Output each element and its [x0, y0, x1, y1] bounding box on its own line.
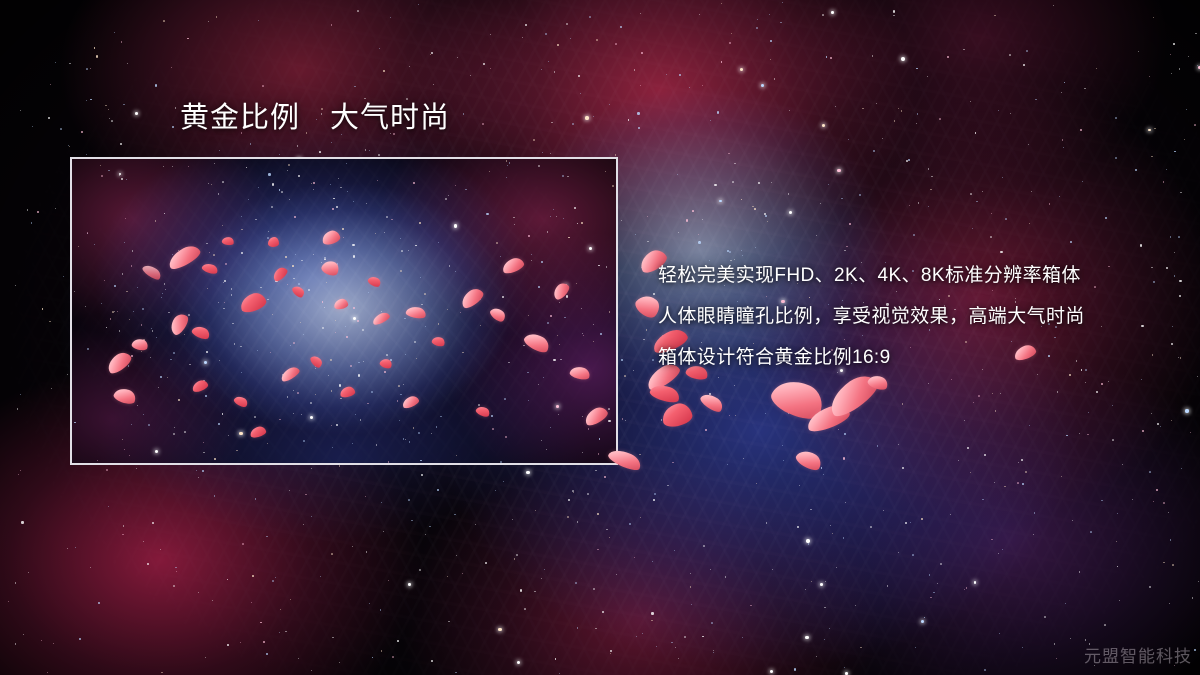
preview-image-frame[interactable]: [70, 157, 618, 465]
body-line-2: 人体眼睛瞳孔比例，享受视觉效果，高端大气时尚: [658, 296, 1168, 337]
petal-shape: [767, 373, 828, 426]
body-line-3: 箱体设计符合黄金比例16:9: [658, 337, 1168, 378]
watermark: 元盟智能科技: [1084, 642, 1192, 667]
petal-shape: [648, 382, 681, 406]
body-copy: 轻松完美实现FHD、2K、4K、8K标准分辨率箱体 人体眼睛瞳孔比例，享受视觉效…: [658, 255, 1168, 378]
petal-shape: [804, 401, 852, 435]
page-title: 黄金比例 大气时尚: [180, 101, 450, 135]
body-line-1: 轻松完美实现FHD、2K、4K、8K标准分辨率箱体: [658, 255, 1168, 296]
preview-filaments: [72, 159, 616, 463]
petal-shape: [794, 447, 825, 474]
petal-shape: [698, 390, 725, 414]
slide-canvas: 黄金比例 大气时尚 轻松完美实现FHD、2K、4K、8K标准分辨率箱体 人体眼睛…: [0, 0, 1200, 675]
petal-shape: [660, 401, 694, 429]
